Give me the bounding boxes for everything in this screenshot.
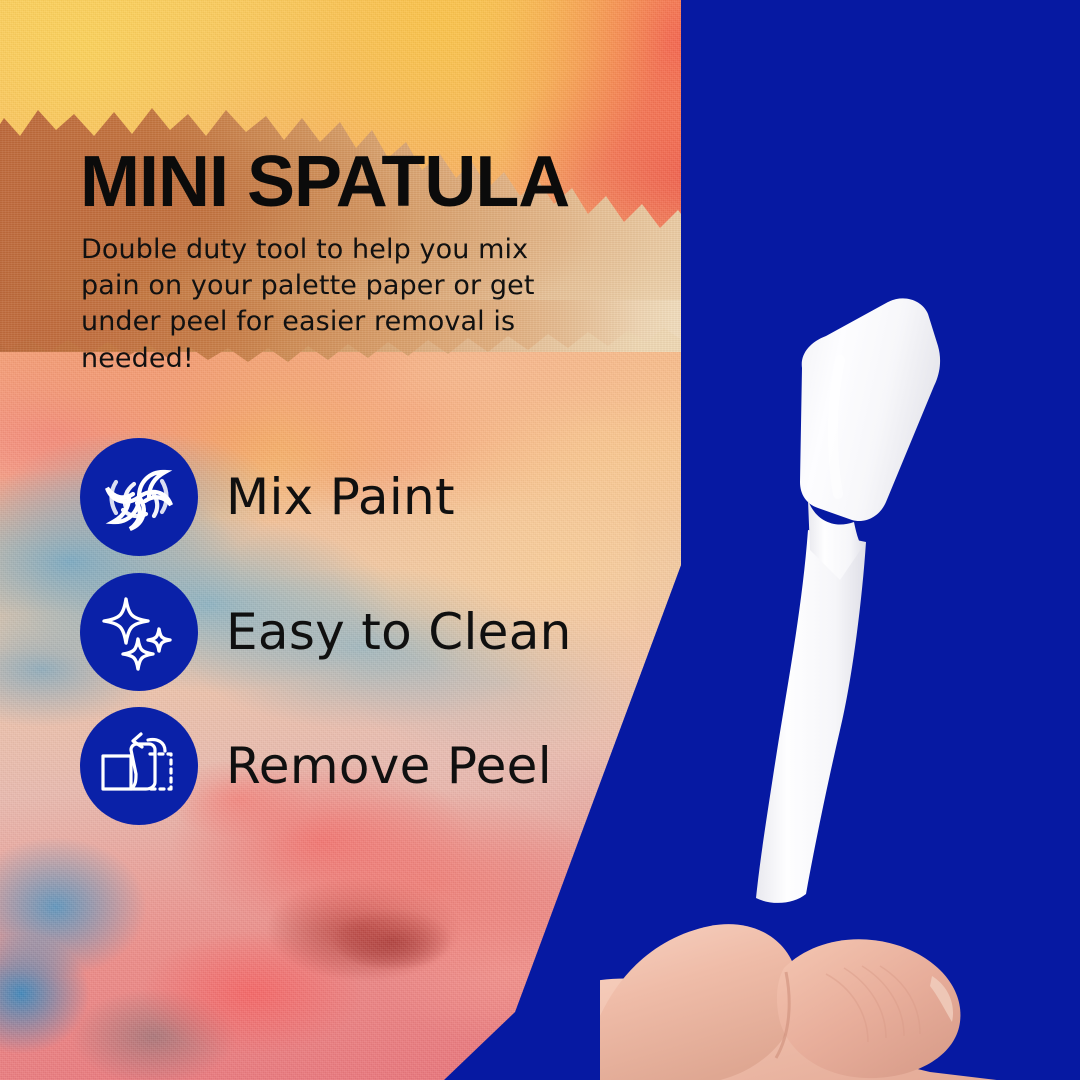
feature-label: Remove Peel bbox=[226, 737, 552, 795]
paint-swirl-icon bbox=[80, 438, 198, 556]
feature-label: Easy to Clean bbox=[226, 603, 572, 661]
product-description: Double duty tool to help you mix pain on… bbox=[81, 232, 581, 377]
peel-sticker-icon bbox=[80, 707, 198, 825]
sparkles-icon bbox=[80, 573, 198, 691]
product-marketing-image: MINI SPATULA Double duty tool to help yo… bbox=[0, 0, 1080, 1080]
feature-label: Mix Paint bbox=[226, 468, 455, 526]
feature-row-mix-paint: Mix Paint bbox=[80, 438, 455, 556]
feature-row-remove-peel: Remove Peel bbox=[80, 707, 552, 825]
hand-holding-spatula bbox=[600, 790, 1080, 1080]
feature-row-easy-to-clean: Easy to Clean bbox=[80, 573, 572, 691]
page-title: MINI SPATULA bbox=[80, 146, 569, 218]
